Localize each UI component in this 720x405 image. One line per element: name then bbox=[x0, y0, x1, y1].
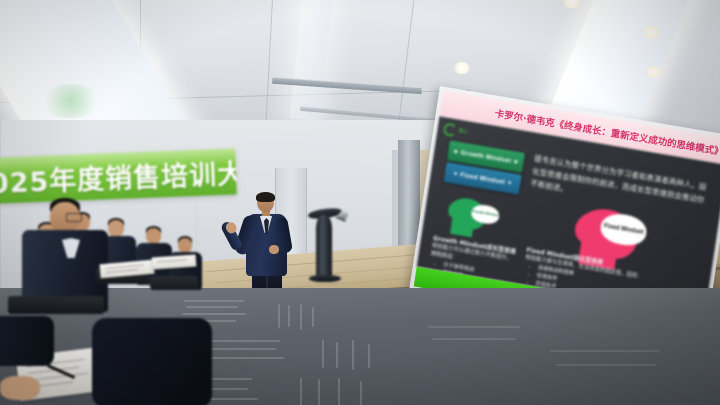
presenter-left-hand bbox=[269, 245, 279, 254]
audience-member-head bbox=[108, 220, 124, 237]
logo-mark-icon bbox=[443, 122, 458, 137]
hand bbox=[0, 376, 40, 400]
conference-room-photo: 2025年度销售培训大练兵 卡罗尔·德韦克《终身成长：重新定义成功的思维模式》 … bbox=[0, 0, 720, 405]
ceiling-light-strip bbox=[290, 0, 341, 121]
slide-logo: 爱心 bbox=[443, 120, 471, 140]
fixed-mindset-label: ✦ Fixed Mindset ✦ bbox=[452, 170, 512, 187]
audience-member-head bbox=[146, 228, 161, 244]
downlight bbox=[452, 62, 472, 74]
glasses-icon bbox=[66, 213, 82, 222]
lectern-base bbox=[309, 275, 341, 282]
downlight bbox=[560, 0, 584, 8]
downlight bbox=[644, 66, 664, 78]
audience-member-body bbox=[0, 316, 54, 366]
wall-banner: 2025年度销售培训大练兵 bbox=[0, 148, 237, 204]
chair bbox=[8, 296, 104, 314]
logo-text: 爱心 bbox=[458, 128, 468, 134]
audience-member-head bbox=[178, 238, 192, 253]
microphone-icon bbox=[336, 211, 349, 223]
lectern-body bbox=[316, 215, 332, 279]
downlight bbox=[640, 26, 662, 39]
lectern bbox=[312, 207, 338, 279]
audience-member-body bbox=[92, 318, 212, 405]
growth-mindset-label: ★ Growth Mindset ★ bbox=[453, 148, 520, 166]
green-reflection bbox=[38, 84, 104, 118]
chair bbox=[150, 276, 198, 290]
presenter-hair bbox=[256, 192, 275, 202]
